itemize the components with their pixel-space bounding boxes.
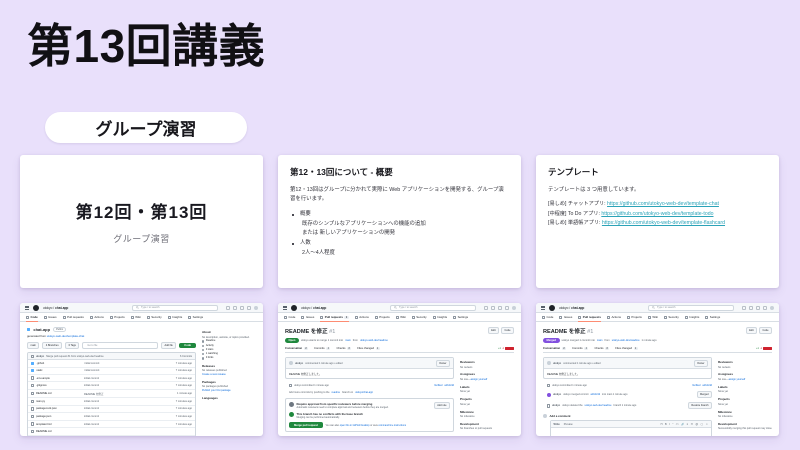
slide2-bullet-line: または 新しいアプリケーションの開発: [290, 229, 509, 238]
tab-issues[interactable]: Issues: [559, 315, 572, 319]
commit-icon: [289, 384, 292, 387]
gear-icon: [705, 316, 708, 319]
tab-security[interactable]: Security: [664, 315, 679, 319]
sidebar-heading: Projects: [718, 397, 772, 401]
shield-icon: [412, 316, 415, 319]
tab-projects[interactable]: Projects: [110, 315, 125, 319]
search-placeholder: Type / to search: [657, 306, 675, 309]
repo-description-prefix: generated from: [27, 334, 47, 338]
delete-author[interactable]: utokyo: [552, 404, 560, 407]
sidebar-text: No one—assign yourself: [460, 378, 514, 382]
search-icon: [394, 306, 397, 309]
diff-deletions: -1: [502, 347, 504, 350]
github-desktop-link[interactable]: open this in GitHub Desktop: [340, 424, 370, 427]
commit-icon: [547, 384, 550, 387]
tab-checks[interactable]: Checks0: [336, 347, 351, 350]
heading-icon[interactable]: H: [661, 423, 663, 426]
owner-badge: Owner: [436, 360, 450, 367]
slide1-title: 第12回・第13回: [76, 198, 208, 223]
diff-deletions: -1: [760, 347, 762, 350]
repo-sidebar: About No description, website, or topics…: [202, 327, 256, 436]
play-icon: [607, 316, 610, 319]
pr-split: utokyo commented 1 minute ago • edited O…: [285, 357, 514, 432]
plus-icon[interactable]: [742, 306, 746, 310]
repo-nav-tabs: Code Issues Pull requests1 Actions Proje…: [278, 313, 521, 322]
tab-checks[interactable]: Checks0: [594, 347, 609, 350]
verified-badge[interactable]: Verified: [692, 384, 700, 387]
slide-thumbnail-overview[interactable]: 第12・13回について - 概要 第12・13回はグループに分かれて実際に We…: [278, 155, 521, 288]
repo-split: chat-app Public generated from utokyo-we…: [27, 327, 256, 436]
rule-icon: [289, 402, 294, 407]
mention-icon[interactable]: @: [696, 423, 699, 426]
book-icon: [396, 316, 399, 319]
issue-icon: [559, 316, 562, 319]
tab-commits[interactable]: Commits1: [572, 347, 588, 350]
avatar[interactable]: [543, 414, 547, 418]
play-icon: [355, 316, 358, 319]
tab-projects[interactable]: Projects: [627, 315, 642, 319]
breadcrumb-repo[interactable]: chat-app: [571, 306, 584, 310]
table-row[interactable]: main.pyinitial commit7 minutes ago: [28, 398, 195, 406]
pr-count-badge: 1: [344, 316, 348, 319]
github-logo-icon[interactable]: [291, 305, 297, 311]
github-topbar: utokyo / chat-app Type / to search: [278, 303, 521, 313]
pr-split: utokyo commented 1 minute ago • edited O…: [543, 357, 772, 436]
search-placeholder: Type / to search: [141, 306, 159, 309]
readme-footer: README.md: [28, 428, 195, 436]
branch-link[interactable]: readme: [332, 391, 340, 394]
sidebar-text: No reviews: [460, 366, 514, 370]
list-item: 人数 2人〜4人程度: [290, 239, 509, 259]
tags-count[interactable]: 0 Tags: [65, 342, 79, 349]
merge-box: Require approval from specific reviewers…: [285, 398, 454, 432]
code-icon[interactable]: <>: [676, 423, 679, 426]
sidebar-heading: Milestone: [718, 410, 772, 414]
tab-security[interactable]: Security: [412, 315, 427, 319]
comment-author[interactable]: utokyo: [295, 362, 303, 365]
file-icon: [31, 376, 34, 379]
pr-meta: Open utokyo wants to merge 1 commit into…: [285, 338, 514, 343]
table-row[interactable]: package.jsoninitial commit7 minutes ago: [28, 413, 195, 421]
pr-icon: [320, 316, 323, 319]
slide-thumbnail-github-repo[interactable]: utokyo / chat-app Type / to search Code …: [20, 303, 263, 436]
tab-files-changed[interactable]: Files changed1: [357, 347, 380, 350]
breadcrumb-repo[interactable]: chat-app: [55, 306, 68, 310]
sidebar-heading: Reviewers: [460, 360, 514, 364]
emoji-icon[interactable]: ☺: [705, 423, 708, 426]
commit-row-text: utokyo committed 1 minute ago: [552, 384, 690, 387]
list-icon[interactable]: ≡: [687, 423, 688, 426]
file-icon: [31, 392, 34, 395]
github-logo-icon[interactable]: [549, 305, 555, 311]
pr-title: README を修正 #1: [285, 327, 335, 335]
code-icon: [26, 316, 29, 319]
breadcrumb[interactable]: utokyo / chat-app: [301, 306, 326, 310]
tab-wiki[interactable]: Wiki: [648, 315, 658, 319]
search-placeholder: Type / to search: [399, 306, 417, 309]
languages-heading: Languages: [202, 396, 256, 400]
pr-head-branch[interactable]: utokyo-web-dev/readme: [612, 339, 640, 342]
edit-button[interactable]: Edit: [488, 327, 499, 334]
breadcrumb[interactable]: utokyo / chat-app: [43, 306, 68, 310]
gear-icon: [453, 316, 456, 319]
composer-textarea[interactable]: [551, 428, 712, 436]
link-icon[interactable]: 🔗: [681, 423, 684, 426]
pr-sidebar: Reviewers No reviews Assignees No one—as…: [718, 357, 772, 436]
issue-icon: [301, 316, 304, 319]
slide-thumbnail-templates[interactable]: テンプレート テンプレートは 3 つ用意しています。 [易しめ] チャットアプリ…: [536, 155, 779, 288]
status-badge: グループ演習: [45, 112, 247, 143]
pr-base-branch[interactable]: main: [345, 339, 351, 342]
search-input[interactable]: Type / to search: [648, 305, 734, 311]
tab-write[interactable]: Write: [554, 423, 560, 426]
issues-icon[interactable]: [749, 306, 753, 310]
tab-insights[interactable]: Insights: [168, 315, 182, 319]
table-row[interactable]: .gitignoreinitial commit7 minutes ago: [28, 382, 195, 390]
pr-title-text: README を修正: [543, 329, 586, 335]
bell-icon[interactable]: [763, 306, 767, 310]
bell-icon[interactable]: [505, 306, 509, 310]
comment-timestamp: commented 1 minute ago • edited: [305, 362, 433, 365]
bell-icon[interactable]: [247, 306, 251, 310]
github-topbar: utokyo / chat-app Type / to search: [536, 303, 779, 313]
table-row[interactable]: package-lock.jsoninitial commit7 minutes…: [28, 406, 195, 414]
list-item[interactable]: 0 forks: [202, 356, 256, 360]
code-button[interactable]: Code: [179, 343, 196, 349]
pull-requests-icon[interactable]: [240, 306, 244, 310]
status-badge-label: グループ演習: [96, 115, 197, 140]
template-link-prefix: [易しめ] 単語帳アプリ:: [548, 220, 602, 226]
graph-icon: [685, 316, 688, 319]
repo-icon: [27, 328, 30, 331]
code-icon: [542, 316, 545, 319]
breadcrumb-repo[interactable]: chat-app: [313, 306, 326, 310]
owner-badge: Owner: [694, 360, 708, 367]
merge-author[interactable]: utokyo: [553, 393, 561, 396]
table-row[interactable]: template.htmlinitial commit7 minutes ago: [28, 421, 195, 429]
commit-timeline-row: utokyo committed 1 minute ago Verified a…: [543, 382, 712, 389]
tab-insights[interactable]: Insights: [433, 315, 447, 319]
table-row[interactable]: .env.sampleinitial commit7 minutes ago: [28, 375, 195, 383]
sidebar-heading: Labels: [718, 385, 772, 389]
restore-branch-button[interactable]: Restore branch: [688, 402, 712, 409]
tab-projects[interactable]: Projects: [375, 315, 390, 319]
file-icon: [31, 407, 34, 410]
deleted-branch-link[interactable]: utokyo-web-dev/readme: [585, 404, 612, 407]
pr-body: README を修正 #1 Edit Code Open utokyo want…: [278, 322, 521, 436]
releases-link-wrap: Create a new release: [202, 373, 256, 377]
folder-icon: [31, 369, 34, 372]
sidebar-text: No milestone: [718, 415, 772, 419]
breadcrumb-owner[interactable]: utokyo: [559, 306, 568, 310]
table-row[interactable]: README.mdREADME を修正1 minute ago: [28, 390, 195, 398]
sidebar-text: None yet: [460, 403, 514, 407]
tab-code[interactable]: Code: [284, 315, 295, 319]
hamburger-icon[interactable]: [283, 306, 287, 310]
merge-icon: [547, 393, 551, 397]
pr-meta-text: utokyo wants to merge 1 commit into: [301, 339, 343, 342]
pr-base-branch[interactable]: main: [597, 339, 603, 342]
edit-button[interactable]: Edit: [746, 327, 757, 334]
slide-thumbnail-github-pr-merged[interactable]: utokyo / chat-app Type / to search Code …: [536, 303, 779, 436]
branches-count[interactable]: 4 Branches: [42, 342, 62, 349]
pull-requests-icon[interactable]: [498, 306, 502, 310]
quote-icon[interactable]: ": [672, 423, 673, 426]
slide-thumbnail-github-pr-open[interactable]: utokyo / chat-app Type / to search Code …: [278, 303, 521, 436]
merge-note: You can also open this in GitHub Desktop…: [325, 424, 406, 427]
search-icon: [652, 306, 655, 309]
pr-meta-text: utokyo merged 1 commit into: [562, 339, 595, 342]
folder-icon: [31, 362, 34, 365]
tab-conversation[interactable]: Conversation1: [543, 347, 566, 350]
create-release-link[interactable]: Create a new release: [202, 373, 226, 376]
merged-commit-sha[interactable]: a1b2c3d: [591, 393, 601, 396]
avatar[interactable]: [547, 361, 551, 365]
add-rule-button[interactable]: Add rule: [434, 402, 450, 409]
commit-count[interactable]: 6 Commits: [180, 355, 192, 358]
avatar[interactable]: [289, 361, 293, 365]
table-icon: [375, 316, 378, 319]
tab-pull-requests[interactable]: Pull requests: [578, 315, 601, 319]
tab-pull-requests[interactable]: Pull requests: [63, 315, 84, 319]
breadcrumb-owner[interactable]: utokyo: [43, 306, 52, 310]
pr-icon: [63, 316, 66, 319]
commit-author[interactable]: utokyo: [36, 355, 44, 358]
plus-icon[interactable]: [484, 306, 488, 310]
pr-comment: utokyo commented 1 minute ago • edited O…: [285, 357, 454, 379]
sidebar-heading: Assignees: [460, 372, 514, 376]
pr-main: utokyo commented 1 minute ago • edited O…: [543, 357, 712, 436]
pr-tabs: Conversation1 Commits1 Checks0 Files cha…: [285, 347, 514, 353]
pr-title-text: README を修正: [285, 329, 328, 335]
issues-icon[interactable]: [233, 306, 237, 310]
issues-icon[interactable]: [491, 306, 495, 310]
pr-icon: [578, 316, 581, 319]
sidebar-heading: Labels: [460, 385, 514, 389]
pr-main: utokyo commented 1 minute ago • edited O…: [285, 357, 454, 432]
file-icon: [31, 415, 34, 418]
topbar-icons: [742, 306, 774, 310]
comment-body: README を修正しました。: [544, 369, 711, 378]
topbar-icons: [484, 306, 516, 310]
tab-code[interactable]: Code: [26, 315, 38, 319]
check-sub: Merging can be performed automatically.: [297, 416, 451, 419]
tab-insights[interactable]: Insights: [685, 315, 699, 319]
repo-main: chat-app Public generated from utokyo-we…: [27, 327, 196, 436]
repo-name[interactable]: chat-app: [33, 327, 50, 332]
assign-yourself-link[interactable]: assign yourself: [729, 378, 746, 381]
slide3-paragraph: テンプレートは 3 つ用意しています。: [548, 186, 767, 195]
book-icon: [131, 316, 134, 319]
graph-icon: [433, 316, 436, 319]
commit-sha[interactable]: a1b2c3d: [702, 384, 712, 387]
slide2-bullet-label: 概要: [290, 210, 509, 219]
avatar[interactable]: [254, 306, 258, 310]
tab-settings[interactable]: Settings: [188, 315, 203, 319]
status-badge: Merged: [543, 338, 560, 343]
pr-meta-time: 1 minute ago: [642, 339, 657, 342]
pulse-icon: [202, 345, 204, 347]
latest-commit-row: utokyo Merge pull request #1 from utokyo…: [28, 353, 195, 360]
slide2-bullet-line: 2人〜4人程度: [290, 249, 509, 258]
sidebar-heading: Projects: [460, 397, 514, 401]
commit-timeline-row: utokyo committed 1 minute ago Verified a…: [285, 382, 454, 389]
fork-icon: [202, 357, 204, 359]
slide2-bullet-label: 人数: [290, 239, 509, 248]
add-file-button[interactable]: Add file: [161, 342, 176, 349]
task-icon[interactable]: ☐: [691, 423, 693, 426]
merged-timeline-row: utokyo utokyo merged commit a1b2c3d into…: [543, 389, 712, 400]
merge-check-row: Require approval from specific reviewers…: [289, 402, 450, 409]
sidebar-heading: Milestone: [460, 410, 514, 414]
tab-files-changed[interactable]: Files changed1: [615, 347, 638, 350]
tab-code[interactable]: Code: [542, 315, 553, 319]
pr-tabs: Conversation1 Commits1 Checks0 Files cha…: [543, 347, 772, 353]
pull-requests-icon[interactable]: [756, 306, 760, 310]
slide-grid: 第12回・第13回 グループ演習 第12・13回について - 概要 第12・13…: [20, 155, 780, 436]
tab-preview[interactable]: Preview: [564, 423, 573, 426]
pr-body: README を修正 #1 Edit Code Merged utokyo me…: [536, 322, 779, 436]
diff-additions: +1: [498, 347, 501, 350]
book-icon: [202, 340, 204, 342]
template-link-flashcard[interactable]: https://github.com/utokyo-web-dev/templa…: [602, 220, 725, 226]
table-icon: [110, 316, 113, 319]
sidebar-text: No branches or pull requests: [460, 427, 514, 431]
merged-badge: Merged: [697, 391, 712, 398]
image-icon[interactable]: ▢: [701, 423, 703, 426]
sidebar-text: No one—assign yourself: [718, 378, 772, 382]
tab-conversation[interactable]: Conversation1: [285, 347, 308, 350]
packages-link-wrap: Publish your first package: [202, 389, 256, 393]
tab-settings[interactable]: Settings: [453, 315, 468, 319]
tab-commits[interactable]: Commits1: [314, 347, 330, 350]
table-row[interactable]: staticinitial commit7 minutes ago: [28, 368, 195, 375]
list-item: 概要 既存のシンプルなアプリケーションへの機能の追加 または 新しいアプリケーシ…: [290, 210, 509, 239]
verified-badge[interactable]: Verified: [434, 384, 442, 387]
tab-actions[interactable]: Actions: [355, 315, 369, 319]
bold-icon[interactable]: B: [665, 423, 667, 426]
repo-body: chat-app Public generated from utokyo-we…: [20, 322, 263, 436]
assign-yourself-link[interactable]: assign yourself: [471, 378, 488, 381]
avatar[interactable]: [512, 306, 516, 310]
italic-icon[interactable]: I: [669, 423, 670, 426]
slide2-heading: 第12・13回について - 概要: [290, 166, 509, 178]
diff-stat: +1-1: [498, 347, 514, 350]
pr-number: #1: [587, 329, 593, 335]
releases-heading: Releases: [202, 364, 256, 368]
github-logo-icon[interactable]: [33, 305, 39, 311]
about-heading: About: [202, 330, 256, 334]
breadcrumb[interactable]: utokyo / chat-app: [559, 306, 584, 310]
slide2-bullet-line: 既存のシンプルなアプリケーションへの機能の追加: [290, 220, 509, 229]
pr-number: #1: [329, 329, 335, 335]
merge-pull-request-button[interactable]: Merge pull request: [289, 422, 323, 428]
sidebar-text: No reviews: [718, 366, 772, 370]
slide-thumbnail-title[interactable]: 第12回・第13回 グループ演習: [20, 155, 263, 288]
commit-sha[interactable]: a1b2c3d: [444, 384, 454, 387]
publish-package-link[interactable]: Publish your first package: [202, 389, 231, 392]
breadcrumb-owner[interactable]: utokyo: [301, 306, 310, 310]
tab-wiki[interactable]: Wiki: [131, 315, 141, 319]
template-link-todo[interactable]: https://github.com/utokyo-web-dev/templa…: [601, 211, 713, 217]
issue-icon: [44, 316, 47, 319]
pr-head-branch[interactable]: utokyo-web-dev/readme: [360, 339, 388, 342]
merge-action-row: Merge pull request You can also open thi…: [289, 422, 450, 428]
table-row[interactable]: .githubinitial commit7 minutes ago: [28, 360, 195, 367]
sidebar-heading: Reviewers: [718, 360, 772, 364]
slide1-subtitle: グループ演習: [113, 232, 169, 245]
sidebar-text: No milestone: [460, 415, 514, 419]
sidebar-heading: Assignees: [718, 372, 772, 376]
tab-actions[interactable]: Actions: [607, 315, 621, 319]
template-link-row: [易しめ] 単語帳アプリ: https://github.com/utokyo-…: [548, 219, 767, 229]
commit-message[interactable]: Merge pull request #1 from utokyo-web-de…: [46, 355, 178, 358]
gear-icon: [188, 316, 191, 319]
deleted-branch-row: utokyo utokyo deleted the utokyo-web-dev…: [543, 400, 712, 411]
tab-wiki[interactable]: Wiki: [396, 315, 406, 319]
search-input[interactable]: Type / to search: [390, 305, 476, 311]
template-link-chat[interactable]: https://github.com/utokyo-web-dev/templa…: [607, 201, 719, 207]
eye-icon: [202, 353, 204, 355]
tab-issues[interactable]: Issues: [301, 315, 314, 319]
comment-author[interactable]: utokyo: [553, 362, 561, 365]
github-topbar: utokyo / chat-app Type / to search: [20, 303, 263, 313]
packages-heading: Packages: [202, 380, 256, 384]
sidebar-text: None yet: [718, 403, 772, 407]
file-search-input[interactable]: Go to file: [82, 342, 158, 349]
hamburger-icon[interactable]: [541, 306, 545, 310]
book-icon: [648, 316, 651, 319]
plus-icon[interactable]: [226, 306, 230, 310]
tab-security[interactable]: Security: [147, 315, 162, 319]
avatar[interactable]: [770, 306, 774, 310]
sidebar-text: None yet: [718, 390, 772, 394]
code-button[interactable]: Code: [759, 327, 772, 334]
pr-sidebar: Reviewers No reviews Assignees No one—as…: [460, 357, 514, 432]
file-icon: [31, 400, 34, 403]
template-link-prefix: [中程度] To Do アプリ:: [548, 211, 601, 217]
comment-header: utokyo commented 1 minute ago • edited O…: [544, 358, 711, 369]
repo-visibility-badge: Public: [53, 327, 66, 332]
pr-meta-from: from: [353, 339, 358, 342]
tab-actions[interactable]: Actions: [90, 315, 104, 319]
file-icon: [31, 422, 34, 425]
comment-composer[interactable]: Write Preview H B I " <> 🔗: [550, 420, 713, 436]
comment-body: README を修正しました。: [286, 369, 453, 378]
command-line-link[interactable]: command line instructions: [378, 424, 406, 427]
repo-nav-tabs: Code Issues Pull requests Actions Projec…: [20, 313, 263, 322]
sidebar-text: None yet: [460, 390, 514, 394]
sidebar-heading: Development: [718, 422, 772, 426]
merge-check-row: This branch has no conflicts with the ba…: [289, 412, 450, 419]
graph-icon: [168, 316, 171, 319]
tab-settings[interactable]: Settings: [705, 315, 720, 319]
topbar-icons: [226, 306, 258, 310]
code-icon: [284, 316, 287, 319]
code-button[interactable]: Code: [501, 327, 514, 334]
search-input[interactable]: Type / to search: [132, 305, 218, 311]
sidebar-heading: Development: [460, 422, 514, 426]
pr-comment: utokyo commented 1 minute ago • edited O…: [543, 357, 712, 379]
tab-issues[interactable]: Issues: [44, 315, 57, 319]
repo-template-link[interactable]: utokyo-web-dev/template-chat: [47, 334, 84, 338]
branch-selector[interactable]: main: [27, 342, 39, 349]
hamburger-icon[interactable]: [25, 306, 29, 310]
tab-pull-requests[interactable]: Pull requests1: [320, 315, 349, 319]
commit-row-text: utokyo committed 1 minute ago: [294, 384, 432, 387]
diff-stat: +1-1: [756, 347, 772, 350]
repo-link[interactable]: utokyo/chat-app: [355, 391, 373, 394]
